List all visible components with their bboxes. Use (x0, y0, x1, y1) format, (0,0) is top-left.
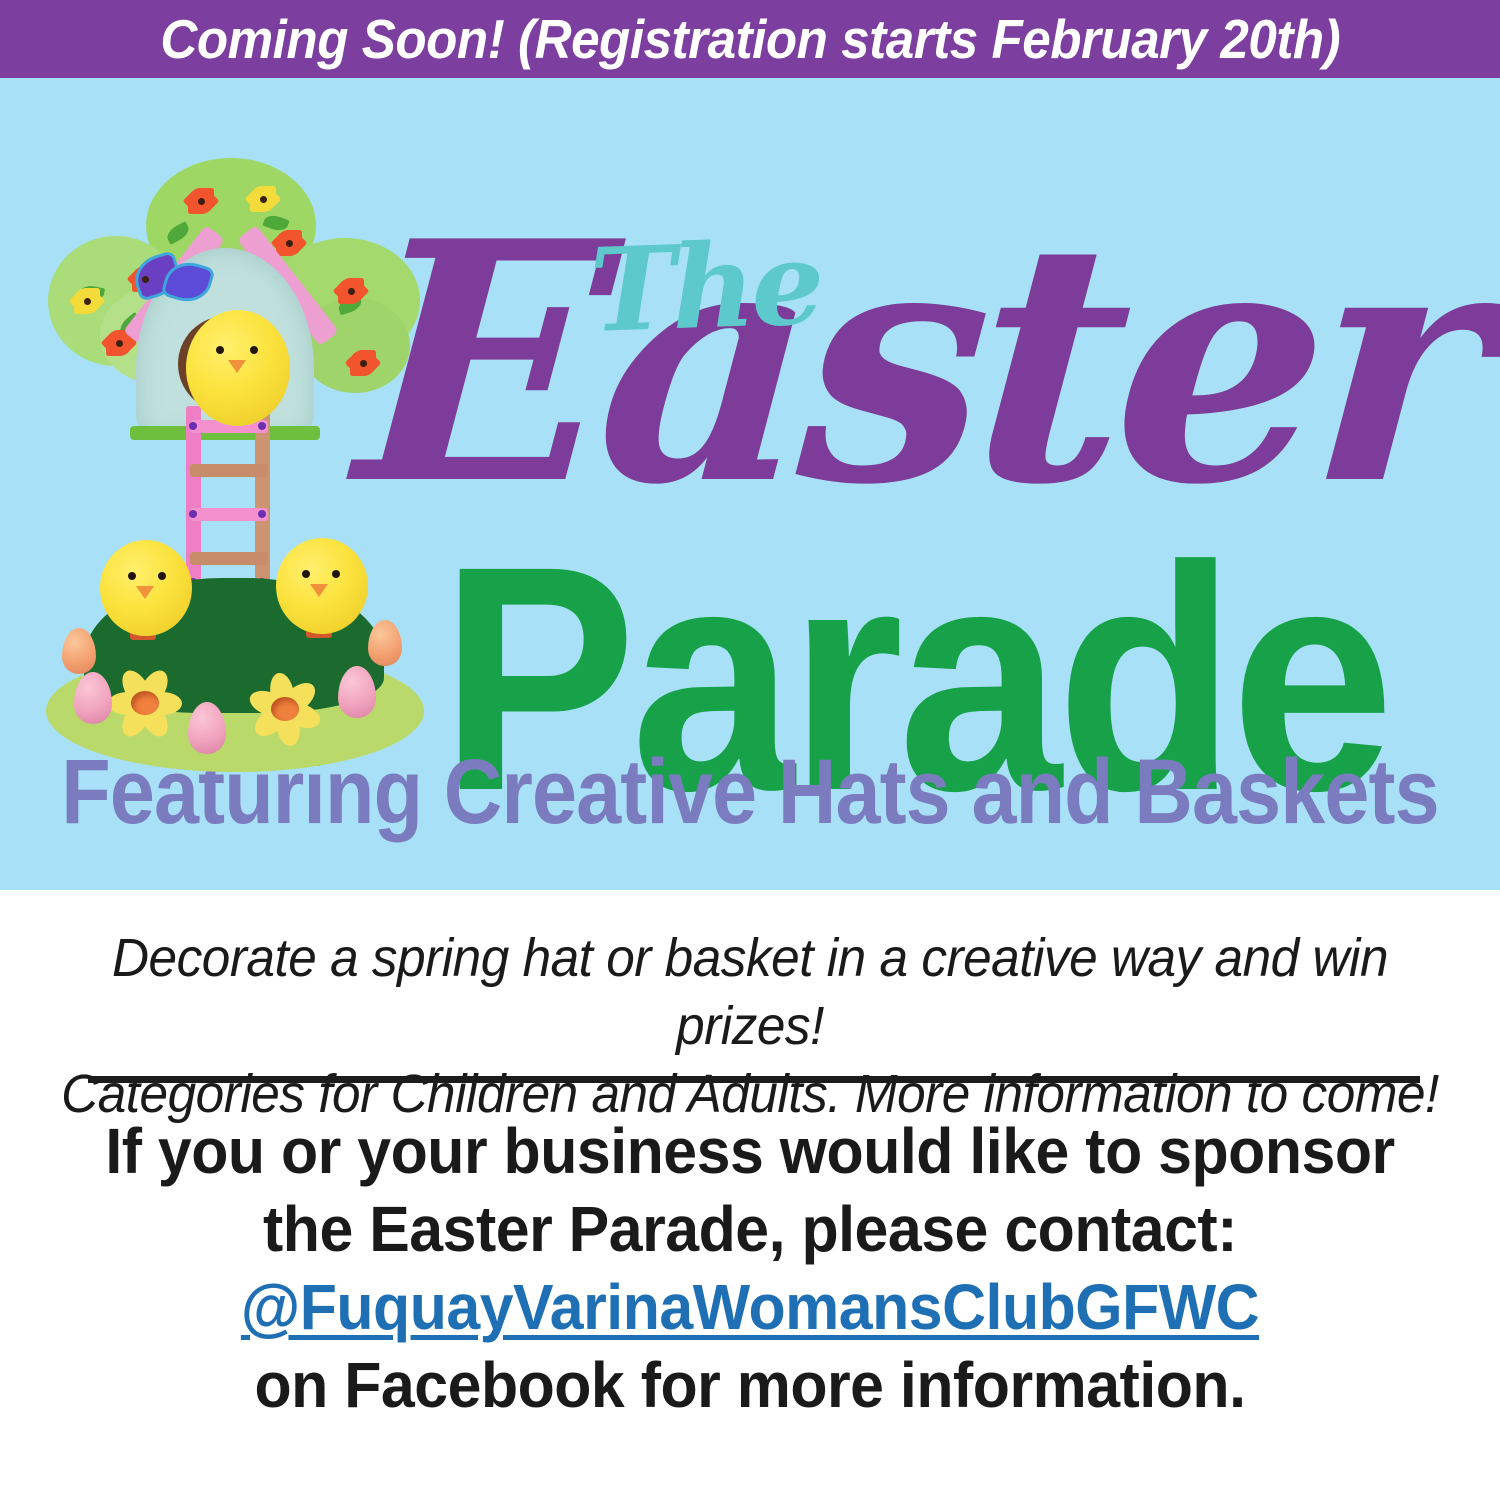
facebook-handle-link[interactable]: @FuquayVarinaWomansClubGFWC (241, 1268, 1259, 1346)
flower-icon (188, 188, 214, 214)
flower-icon (338, 278, 364, 304)
title-easter: Easter (350, 198, 1488, 528)
flower-icon (74, 288, 100, 314)
sponsor-block: If you or your business would like to sp… (0, 1112, 1500, 1424)
title-the: The (588, 226, 822, 349)
description-line-1: Decorate a spring hat or basket in a cre… (38, 924, 1463, 1060)
sponsor-line-2: the Easter Parade, please contact: (38, 1190, 1463, 1268)
announcement-banner-text: Coming Soon! (Registration starts Februa… (160, 12, 1340, 67)
sponsor-handle-row: @FuquayVarinaWomansClubGFWC (38, 1268, 1463, 1346)
butterfly-icon (134, 256, 210, 310)
flower-icon (250, 186, 276, 212)
flower-icon (276, 230, 302, 256)
easter-egg (368, 620, 402, 666)
details-section: Decorate a spring hat or basket in a cre… (0, 890, 1500, 1500)
horizontal-divider (88, 1076, 1420, 1083)
announcement-banner: Coming Soon! (Registration starts Februa… (0, 0, 1500, 78)
sponsor-line-1: If you or your business would like to sp… (38, 1112, 1463, 1190)
daffodil-flower (244, 672, 326, 746)
daffodil-flower (104, 666, 186, 740)
sponsor-line-4: on Facebook for more information. (38, 1346, 1463, 1424)
toy-ladder (186, 406, 270, 606)
easter-parade-flyer: Coming Soon! (Registration starts Februa… (0, 0, 1500, 1500)
description-block: Decorate a spring hat or basket in a cre… (0, 924, 1500, 1128)
hero-section: Easter The Parade Featuring Creative Hat… (0, 78, 1500, 890)
